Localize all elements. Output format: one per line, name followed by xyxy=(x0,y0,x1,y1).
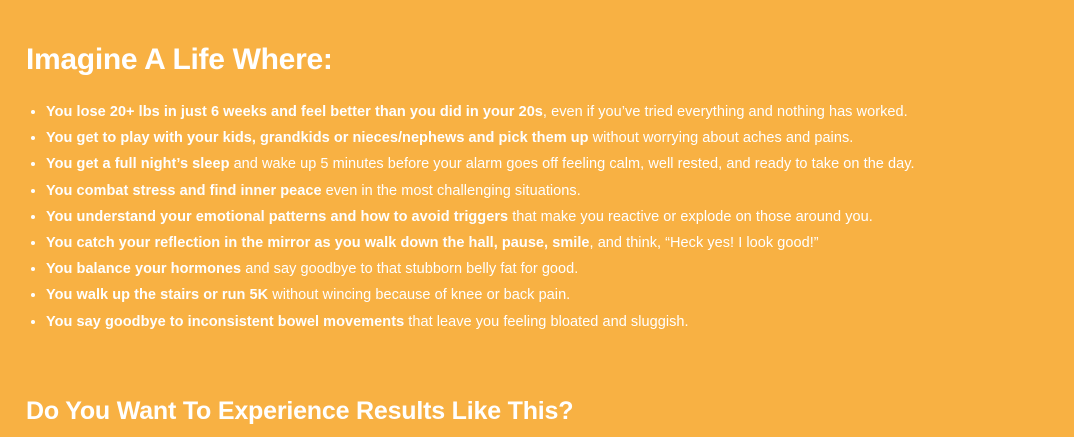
benefit-detail-text: even in the most challenging situations. xyxy=(322,183,581,199)
benefit-list-item: You say goodbye to inconsistent bowel mo… xyxy=(26,309,1056,335)
bullet-point-icon xyxy=(31,267,35,271)
benefit-lead-text: You get a full night’s sleep xyxy=(46,156,229,172)
benefit-list-item: You lose 20+ lbs in just 6 weeks and fee… xyxy=(26,99,1056,125)
benefit-detail-text: that make you reactive or explode on tho… xyxy=(508,209,873,225)
benefit-lead-text: You catch your reflection in the mirror … xyxy=(46,235,590,251)
benefit-lead-text: You walk up the stairs or run 5K xyxy=(46,287,268,303)
benefit-lead-text: You combat stress and find inner peace xyxy=(46,183,322,199)
benefit-detail-text: , even if you’ve tried everything and no… xyxy=(543,104,908,120)
benefit-list-item: You catch your reflection in the mirror … xyxy=(26,230,1056,256)
benefit-detail-text: , and think, “Heck yes! I look good!” xyxy=(590,235,819,251)
bullet-point-icon xyxy=(31,136,35,140)
benefit-detail-text: and wake up 5 minutes before your alarm … xyxy=(229,156,914,172)
page-title: Imagine A Life Where: xyxy=(26,41,333,79)
bullet-point-icon xyxy=(31,189,35,193)
bullet-point-icon xyxy=(31,320,35,324)
benefit-list-item: You balance your hormones and say goodby… xyxy=(26,256,1056,282)
benefit-detail-text: without wincing because of knee or back … xyxy=(268,287,570,303)
bullet-point-icon xyxy=(31,215,35,219)
benefit-detail-text: without worrying about aches and pains. xyxy=(589,130,854,146)
benefit-lead-text: You say goodbye to inconsistent bowel mo… xyxy=(46,314,404,330)
benefit-lead-text: You understand your emotional patterns a… xyxy=(46,209,508,225)
bullet-point-icon xyxy=(31,110,35,114)
benefit-lead-text: You get to play with your kids, grandkid… xyxy=(46,130,589,146)
bullet-point-icon xyxy=(31,162,35,166)
benefit-list-item: You get a full night’s sleep and wake up… xyxy=(26,151,1056,177)
bullet-point-icon xyxy=(31,241,35,245)
benefit-detail-text: and say goodbye to that stubborn belly f… xyxy=(241,261,578,277)
benefits-section: Imagine A Life Where: You lose 20+ lbs i… xyxy=(0,0,1074,437)
benefit-list-item: You understand your emotional patterns a… xyxy=(26,204,1056,230)
benefits-list: You lose 20+ lbs in just 6 weeks and fee… xyxy=(26,99,1056,335)
benefit-list-item: You get to play with your kids, grandkid… xyxy=(26,125,1056,151)
benefit-list-item: You walk up the stairs or run 5K without… xyxy=(26,282,1056,308)
benefit-lead-text: You balance your hormones xyxy=(46,261,241,277)
section-subheading: Do You Want To Experience Results Like T… xyxy=(26,395,573,427)
benefit-lead-text: You lose 20+ lbs in just 6 weeks and fee… xyxy=(46,104,543,120)
benefit-list-item: You combat stress and find inner peace e… xyxy=(26,178,1056,204)
bullet-point-icon xyxy=(31,293,35,297)
benefit-detail-text: that leave you feeling bloated and slugg… xyxy=(404,314,688,330)
